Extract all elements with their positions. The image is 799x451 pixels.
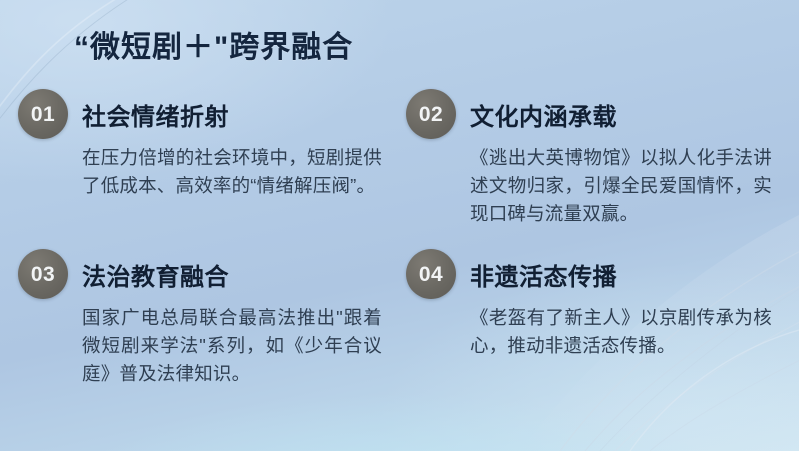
item-number-badge: 01 — [18, 89, 68, 139]
item-body-text: 《老盔有了新主人》以京剧传承为核心，推动非遗活态传播。 — [470, 304, 772, 360]
item-number-badge: 02 — [406, 89, 456, 139]
item-header: 04 非遗活态传播 — [406, 248, 778, 300]
item-title: 社会情绪折射 — [82, 97, 229, 132]
list-item-03: 03 法治教育融合 国家广电总局联合最高法推出"跟着微短剧来学法"系列，如《少年… — [18, 248, 390, 388]
item-header: 03 法治教育融合 — [18, 248, 390, 300]
list-item-04: 04 非遗活态传播 《老盔有了新主人》以京剧传承为核心，推动非遗活态传播。 — [406, 248, 778, 360]
list-item-01: 01 社会情绪折射 在压力倍增的社会环境中，短剧提供了低成本、高效率的“情绪解压… — [18, 88, 390, 200]
item-title: 非遗活态传播 — [470, 257, 617, 292]
slide-canvas: “微短剧＋"跨界融合 01 社会情绪折射 在压力倍增的社会环境中，短剧提供了低成… — [0, 0, 799, 451]
item-number-badge: 03 — [18, 249, 68, 299]
item-title: 法治教育融合 — [82, 257, 229, 292]
items-grid: 01 社会情绪折射 在压力倍增的社会环境中，短剧提供了低成本、高效率的“情绪解压… — [0, 88, 799, 418]
item-body-text: 在压力倍增的社会环境中，短剧提供了低成本、高效率的“情绪解压阀”。 — [82, 144, 382, 200]
list-item-02: 02 文化内涵承载 《逃出大英博物馆》以拟人化手法讲述文物归家，引爆全民爱国情怀… — [406, 88, 778, 228]
item-title: 文化内涵承载 — [470, 97, 617, 132]
item-number-badge: 04 — [406, 249, 456, 299]
page-title: “微短剧＋"跨界融合 — [74, 22, 353, 66]
item-header: 02 文化内涵承载 — [406, 88, 778, 140]
item-body-text: 国家广电总局联合最高法推出"跟着微短剧来学法"系列，如《少年合议庭》普及法律知识… — [82, 304, 382, 388]
item-body-text: 《逃出大英博物馆》以拟人化手法讲述文物归家，引爆全民爱国情怀，实现口碑与流量双赢… — [470, 144, 772, 228]
item-header: 01 社会情绪折射 — [18, 88, 390, 140]
